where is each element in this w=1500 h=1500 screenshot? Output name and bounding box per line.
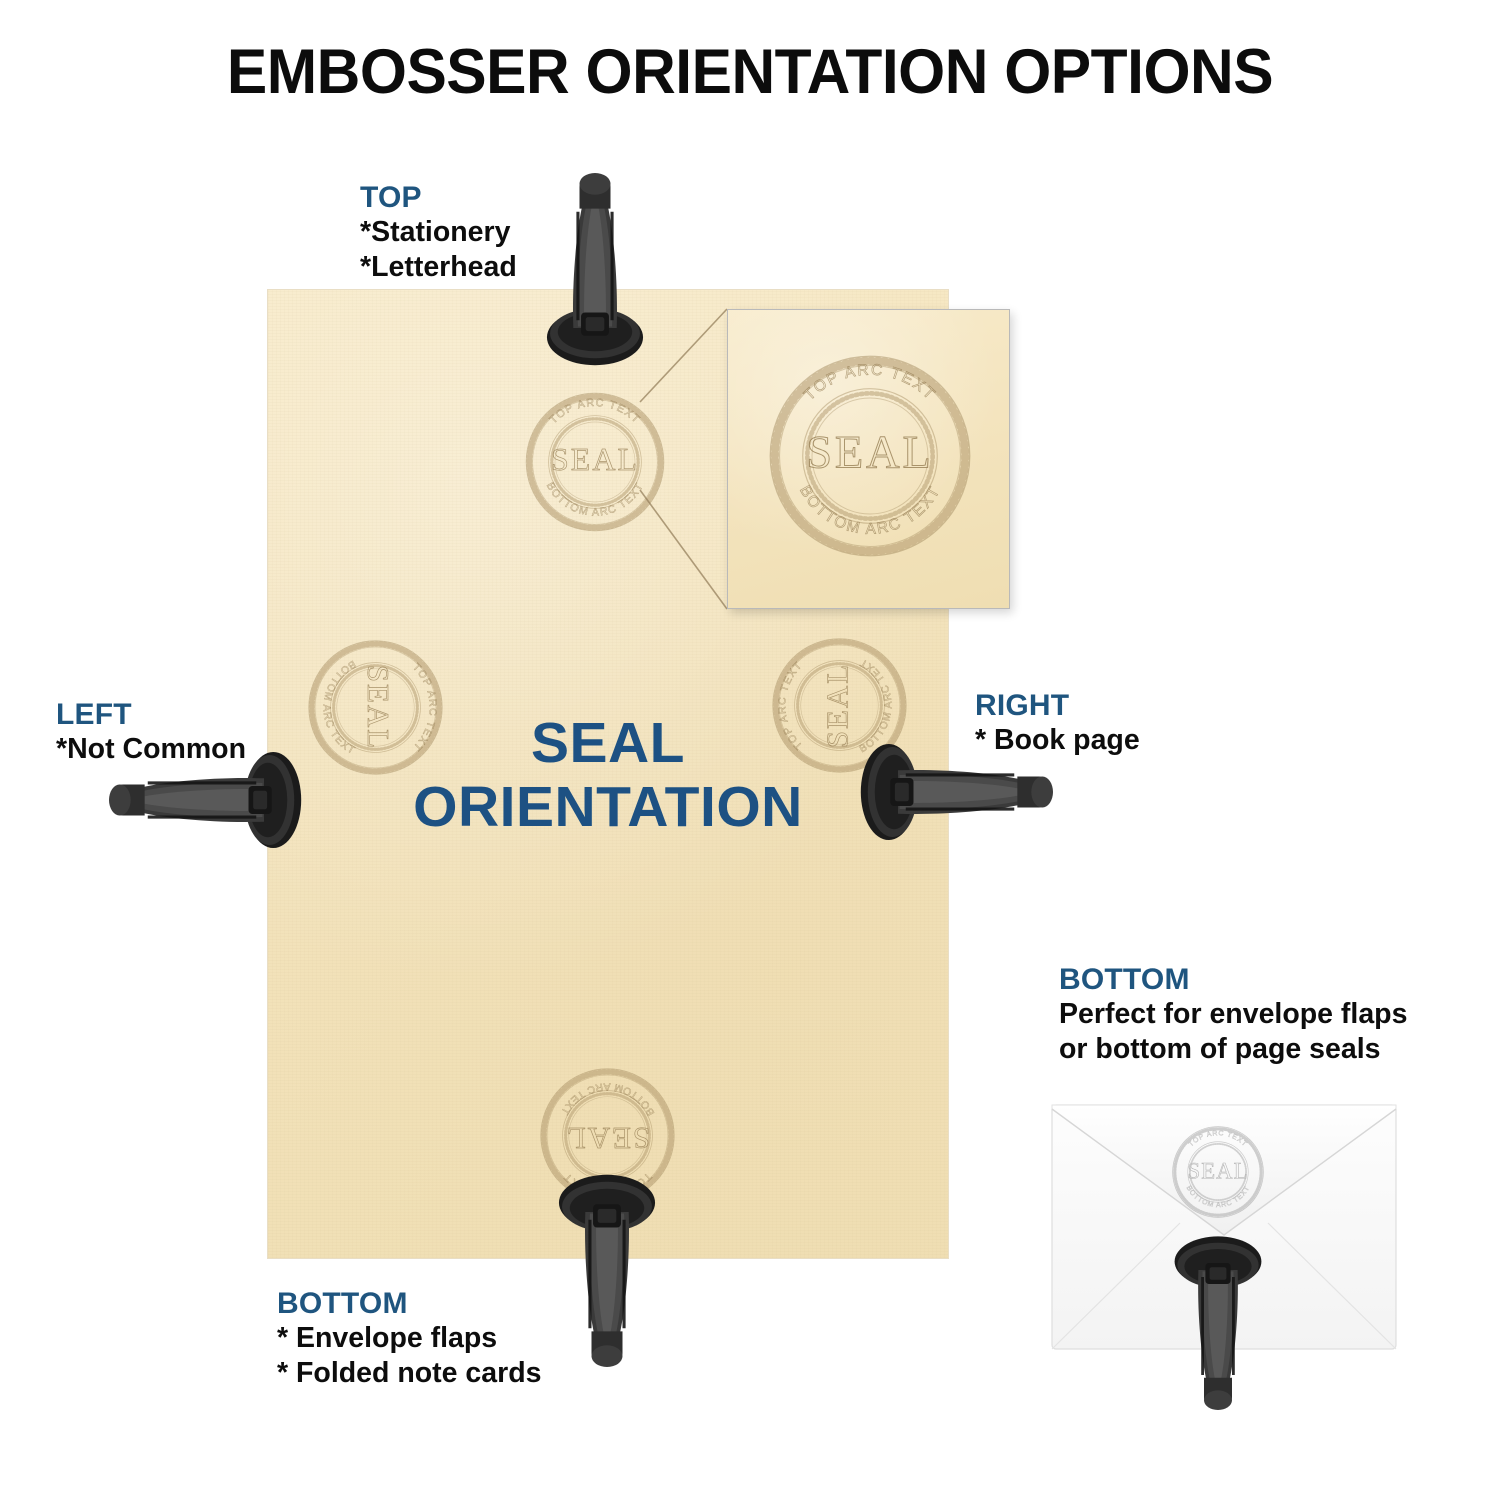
infographic-canvas: EMBOSSER ORIENTATION OPTIONS TOP ARC TEX… [0,0,1500,1500]
page-title: EMBOSSER ORIENTATION OPTIONS [30,36,1470,108]
label-top-heading: TOP [360,180,517,215]
label-right: RIGHT * Book page [975,688,1140,758]
center-caption-line-1: SEAL [268,712,948,776]
label-top-line-1: *Stationery [360,215,517,250]
seal-impression-magnified [754,340,986,572]
label-bottom-paper-line-1: * Envelope flaps [277,1321,541,1356]
label-right-line-1: * Book page [975,723,1140,758]
magnified-seal-panel [727,309,1010,609]
label-right-heading: RIGHT [975,688,1140,723]
label-left-line-1: *Not Common [56,732,246,767]
center-caption-line-2: ORIENTATION [268,776,948,840]
label-top-line-2: *Letterhead [360,250,517,285]
label-left-heading: LEFT [56,697,246,732]
label-left: LEFT *Not Common [56,697,246,767]
label-bottom-envelope: BOTTOM Perfect for envelope flaps or bot… [1059,962,1407,1067]
label-bottom-envelope-line-1: Perfect for envelope flaps [1059,997,1407,1032]
label-top: TOP *Stationery *Letterhead [360,180,517,285]
label-bottom-envelope-heading: BOTTOM [1059,962,1407,997]
label-bottom-paper: BOTTOM * Envelope flaps * Folded note ca… [277,1286,541,1391]
center-caption: SEAL ORIENTATION [268,712,948,840]
label-bottom-paper-heading: BOTTOM [277,1286,541,1321]
label-bottom-paper-line-2: * Folded note cards [277,1356,541,1391]
envelope-illustration [1050,1103,1398,1351]
label-bottom-envelope-line-2: or bottom of page seals [1059,1032,1407,1067]
